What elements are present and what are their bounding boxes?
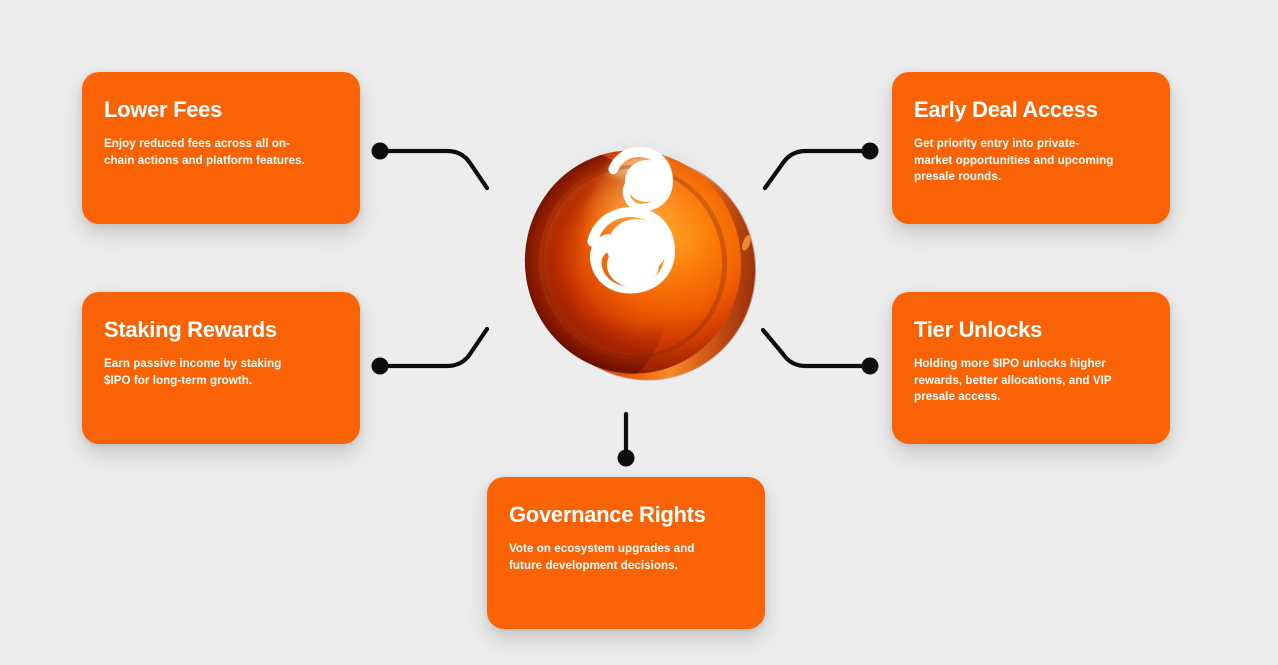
connector-dot-staking <box>372 358 389 375</box>
card-title: Lower Fees <box>104 98 338 122</box>
card-title: Early Deal Access <box>914 98 1148 122</box>
ghost-emblem-icon <box>567 143 699 301</box>
connector-dot-early-access <box>862 143 879 160</box>
connector-line-staking <box>381 329 487 366</box>
card-description: Holding more $IPO unlocks higher rewards… <box>914 356 1114 405</box>
benefit-card-lower-fees[interactable]: Lower Fees Enjoy reduced fees across all… <box>82 72 360 224</box>
card-description: Get priority entry into private-market o… <box>914 136 1114 185</box>
benefits-diagram: Lower Fees Enjoy reduced fees across all… <box>0 0 1278 665</box>
card-description: Vote on ecosystem upgrades and future de… <box>509 541 724 574</box>
connector-line-early-access <box>765 151 869 188</box>
card-title: Staking Rewards <box>104 318 338 342</box>
connector-dot-governance <box>618 450 635 467</box>
benefit-card-early-deal-access[interactable]: Early Deal Access Get priority entry int… <box>892 72 1170 224</box>
connector-dot-tier-unlocks <box>862 358 879 375</box>
token-coin <box>515 95 760 345</box>
card-description: Enjoy reduced fees across all on-chain a… <box>104 136 309 169</box>
connector-line-tier-unlocks <box>763 330 869 366</box>
card-title: Tier Unlocks <box>914 318 1148 342</box>
card-title: Governance Rights <box>509 503 743 527</box>
card-description: Earn passive income by staking $IPO for … <box>104 356 309 389</box>
benefit-card-governance-rights[interactable]: Governance Rights Vote on ecosystem upgr… <box>487 477 765 629</box>
benefit-card-tier-unlocks[interactable]: Tier Unlocks Holding more $IPO unlocks h… <box>892 292 1170 444</box>
connector-line-lower-fees <box>381 151 487 188</box>
benefit-card-staking-rewards[interactable]: Staking Rewards Earn passive income by s… <box>82 292 360 444</box>
connector-dot-lower-fees <box>372 143 389 160</box>
